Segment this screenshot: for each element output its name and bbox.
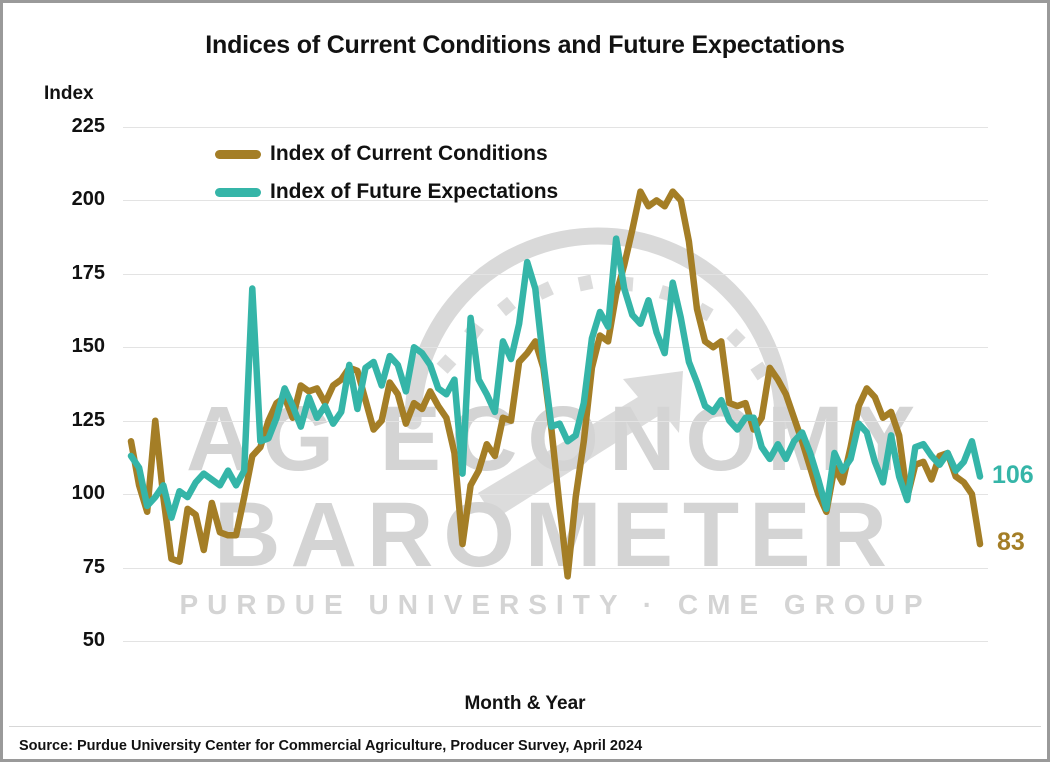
y-tick-75: 75 — [33, 556, 105, 579]
end-label-future-expectations: 106 — [992, 461, 1034, 490]
chart-canvas: Indices of Current Conditions and Future… — [3, 3, 1047, 759]
legend-item-future-expectations: Index of Future Expectations — [215, 173, 558, 211]
y-tick-100: 100 — [33, 482, 105, 505]
x-axis-title: Month & Year — [3, 693, 1047, 715]
legend-label-current-conditions: Index of Current Conditions — [270, 142, 548, 166]
end-label-current-conditions: 83 — [997, 528, 1025, 557]
page-title: Indices of Current Conditions and Future… — [3, 31, 1047, 60]
chart-page: Indices of Current Conditions and Future… — [0, 0, 1050, 762]
source-note: Source: Purdue University Center for Com… — [19, 738, 642, 754]
legend-swatch-current-conditions — [215, 150, 261, 159]
legend-label-future-expectations: Index of Future Expectations — [270, 180, 558, 204]
legend-item-current-conditions: Index of Current Conditions — [215, 135, 558, 173]
y-tick-50: 50 — [33, 629, 105, 652]
y-tick-150: 150 — [33, 335, 105, 358]
y-axis-title: Index — [44, 83, 94, 105]
y-tick-225: 225 — [33, 115, 105, 138]
legend-swatch-future-expectations — [215, 188, 261, 197]
y-tick-125: 125 — [33, 409, 105, 432]
y-tick-175: 175 — [33, 262, 105, 285]
source-divider — [9, 726, 1041, 727]
legend: Index of Current Conditions Index of Fut… — [215, 135, 558, 211]
y-tick-200: 200 — [33, 188, 105, 211]
